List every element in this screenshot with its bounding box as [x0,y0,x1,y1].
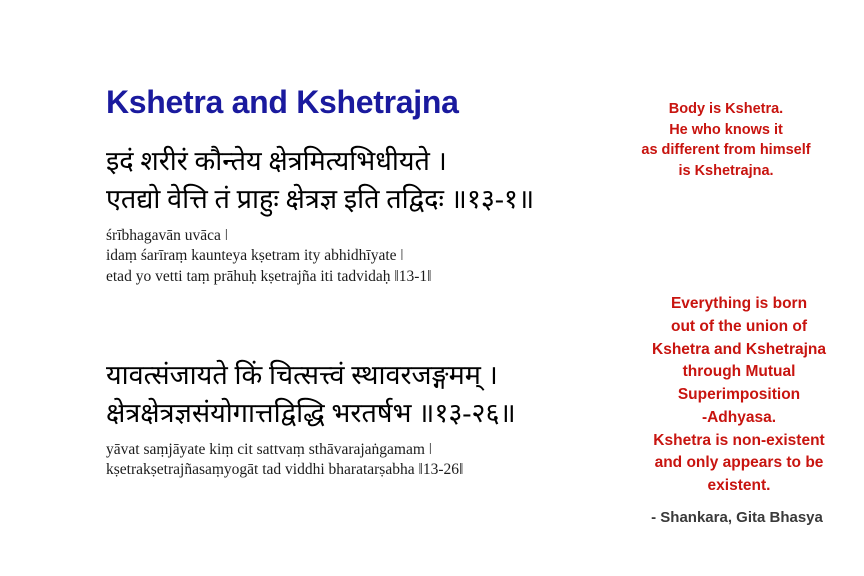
note-line: existent. [618,475,860,498]
transliteration-line: yāvat saṃjāyate kiṃ cit sattvaṃ sthāvara… [106,440,516,460]
transliteration-line: śrībhagavān uvāca ǀ [106,226,534,246]
source-attribution: - Shankara, Gita Bhasya [618,509,856,526]
devanagari-line: इदं शरीरं कौन्तेय क्षेत्रमित्यभिधीयते । [106,142,534,180]
note-line: -Adhyasa. [618,407,860,430]
note-line: is Kshetrajna. [592,161,860,182]
commentary-note-bottom: Everything is born out of the union of K… [618,293,860,498]
note-line: as different from himself [592,140,860,161]
transliteration-line: idaṃ śarīraṃ kaunteya kṣetram ity abhidh… [106,246,534,266]
note-line: through Mutual [618,361,860,384]
slide-canvas: Kshetra and Kshetrajna इदं शरीरं कौन्तेय… [0,0,864,576]
note-line: He who knows it [592,120,860,141]
note-line: and only appears to be [618,452,860,475]
note-line: Kshetra is non-existent [618,430,860,453]
note-line: Kshetra and Kshetrajna [618,339,860,362]
transliteration-block: śrībhagavān uvāca ǀ idaṃ śarīraṃ kauntey… [106,226,534,287]
verse-block-13-26: यावत्संजायते किं चित्सत्त्वं स्थावरजङ्गम… [106,356,516,481]
note-line: Superimposition [618,384,860,407]
note-line: Everything is born [618,293,860,316]
note-line: out of the union of [618,316,860,339]
transliteration-line: etad yo vetti taṃ prāhuḥ kṣetrajña iti t… [106,267,534,287]
devanagari-line: यावत्संजायते किं चित्सत्त्वं स्थावरजङ्गम… [106,356,516,394]
page-title: Kshetra and Kshetrajna [106,86,459,120]
verse-block-13-1: इदं शरीरं कौन्तेय क्षेत्रमित्यभिधीयते । … [106,142,534,287]
devanagari-line: क्षेत्रक्षेत्रज्ञसंयोगात्तद्विद्धि भरतर्… [106,394,516,432]
devanagari-line: एतद्यो वेत्ति तं प्राहुः क्षेत्रज्ञ इति … [106,180,534,218]
transliteration-line: kṣetrakṣetrajñasaṃyogāt tad viddhi bhara… [106,460,516,480]
commentary-note-top: Body is Kshetra. He who knows it as diff… [592,99,860,182]
transliteration-block: yāvat saṃjāyate kiṃ cit sattvaṃ sthāvara… [106,440,516,481]
note-line: Body is Kshetra. [592,99,860,120]
